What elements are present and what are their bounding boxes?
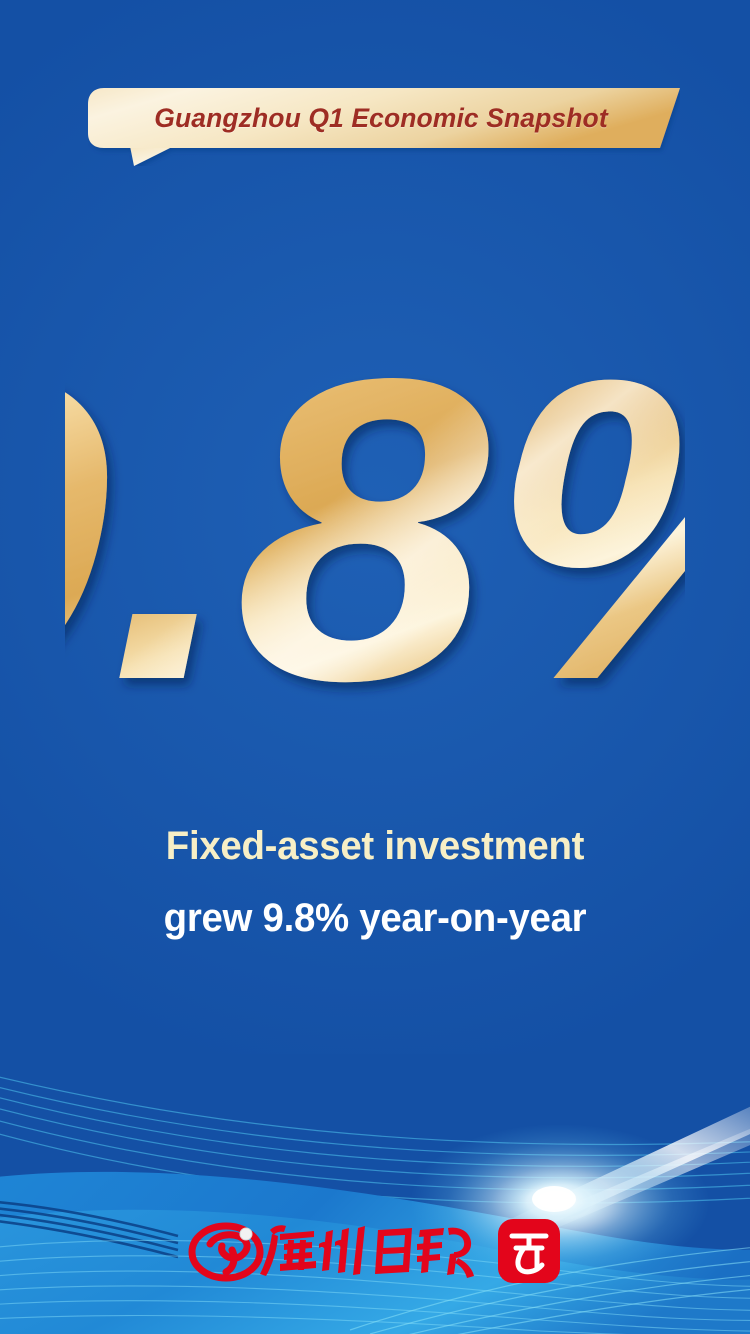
caption-line-1: Fixed-asset investment xyxy=(15,826,735,866)
seal-icon xyxy=(496,1217,562,1285)
emblem-icon xyxy=(192,1226,260,1278)
caption-line-2: grew 9.8% year-on-year xyxy=(15,898,735,938)
caption-block: Fixed-asset investment grew 9.8% year-on… xyxy=(0,826,750,938)
ribbon-title: Guangzhou Q1 Economic Snapshot xyxy=(88,88,680,148)
wave-illustration-icon xyxy=(0,1054,750,1334)
footer-wave-graphic xyxy=(0,1054,750,1334)
masthead-wordmark-icon xyxy=(188,1214,484,1288)
hero-value-gold-text: 9.8% 9.8% xyxy=(65,300,685,770)
hero-statistic: 9.8% 9.8% xyxy=(0,300,750,770)
header-ribbon: Guangzhou Q1 Economic Snapshot xyxy=(88,88,680,166)
wordmark-characters xyxy=(260,1225,474,1278)
hero-value-sheen: 9.8% xyxy=(65,300,685,769)
guangzhou-daily-logo xyxy=(0,1214,750,1288)
poster-root: Guangzhou Q1 Economic Snapshot xyxy=(0,0,750,1334)
